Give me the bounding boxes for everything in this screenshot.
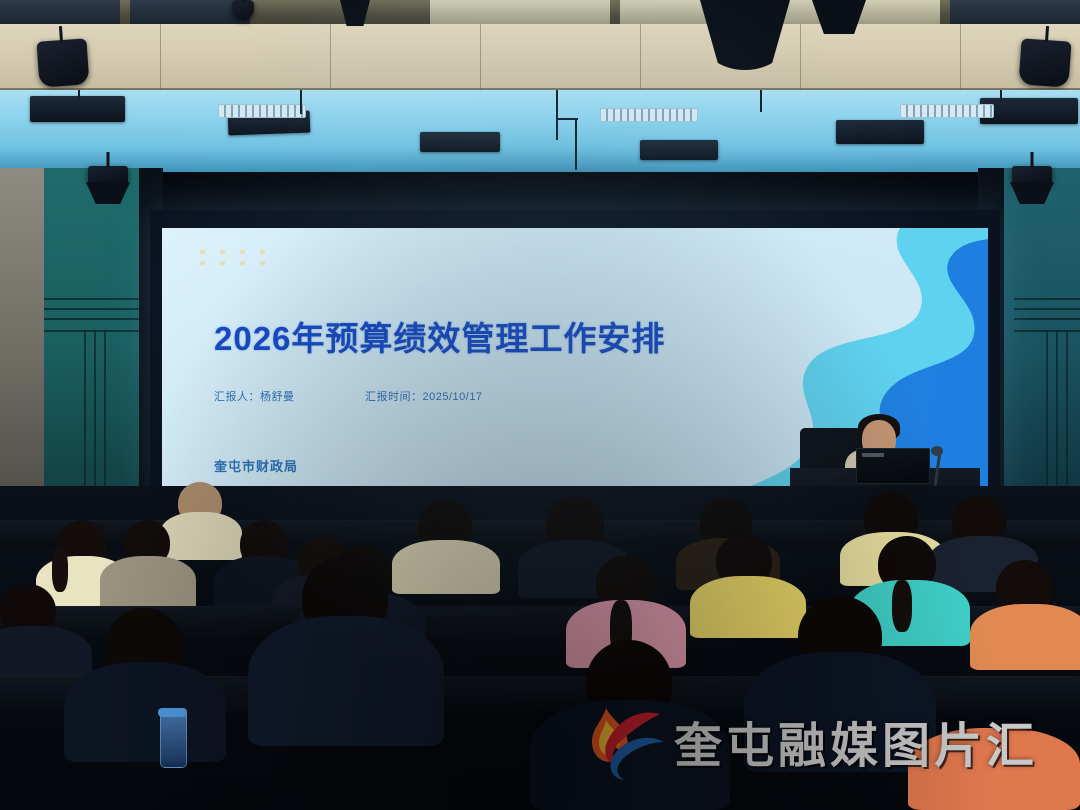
ceiling-slot bbox=[0, 0, 120, 24]
ceiling-cable bbox=[300, 90, 302, 114]
wall-groove bbox=[1014, 308, 1080, 310]
microphone-head bbox=[931, 446, 943, 456]
ceiling-skylight bbox=[430, 0, 610, 24]
presenter-laptop bbox=[856, 448, 930, 484]
ceiling-cable-cross bbox=[556, 118, 578, 120]
wall-spotlight-right bbox=[1012, 166, 1052, 184]
slide-organization: 奎屯市财政局 bbox=[214, 456, 298, 475]
ceiling-fixture bbox=[640, 140, 718, 160]
wall-spotlight-left bbox=[88, 166, 128, 184]
ceiling-seam bbox=[960, 24, 961, 90]
ceiling-fixture bbox=[836, 120, 924, 144]
ceiling-fixture bbox=[420, 132, 500, 152]
wall-groove bbox=[44, 298, 139, 300]
water-cup bbox=[160, 712, 187, 768]
ceiling-vent bbox=[900, 104, 994, 118]
ceiling-cable bbox=[78, 90, 80, 100]
watermark-text: 奎屯融媒图片汇 bbox=[674, 706, 1038, 776]
slide-title: 2026年预算绩效管理工作安排 bbox=[214, 312, 665, 360]
flame-swirl-logo bbox=[572, 694, 668, 784]
ceiling-cable bbox=[556, 90, 558, 140]
laptop-logo bbox=[862, 453, 884, 457]
slide-time-label: 汇报时间：2025/10/17 bbox=[365, 388, 483, 404]
ceiling-fixture bbox=[980, 98, 1078, 124]
ceiling-cable bbox=[760, 90, 762, 112]
photo-scene: 2026年预算绩效管理工作安排 汇报人：杨舒曼 汇报时间：2025/10/17 … bbox=[0, 0, 1080, 810]
ceiling-seam bbox=[330, 24, 331, 90]
wall-speaker-left bbox=[36, 38, 89, 87]
ceiling-vent bbox=[600, 108, 698, 122]
ceiling-seam bbox=[480, 24, 481, 90]
wall-groove bbox=[44, 318, 139, 320]
ceiling-seam bbox=[800, 24, 801, 90]
wall-speaker-right bbox=[1018, 38, 1071, 87]
watermark: 奎屯融媒图片汇 bbox=[572, 694, 1012, 786]
slide-presenter-label: 汇报人：杨舒曼 bbox=[214, 388, 295, 404]
ceiling-cable bbox=[1000, 90, 1002, 102]
wall-groove bbox=[44, 308, 139, 310]
ceiling-seam bbox=[160, 24, 161, 90]
wall-groove bbox=[44, 330, 139, 332]
wall-groove bbox=[1014, 318, 1080, 320]
wall-groove bbox=[1014, 298, 1080, 300]
ceiling-vent bbox=[218, 104, 306, 118]
ceiling-seam bbox=[640, 24, 641, 90]
ceiling-beam bbox=[0, 24, 1080, 90]
ceiling-slot bbox=[950, 0, 1080, 24]
water-cup-lid bbox=[158, 708, 187, 717]
ceiling-cable bbox=[575, 120, 577, 170]
